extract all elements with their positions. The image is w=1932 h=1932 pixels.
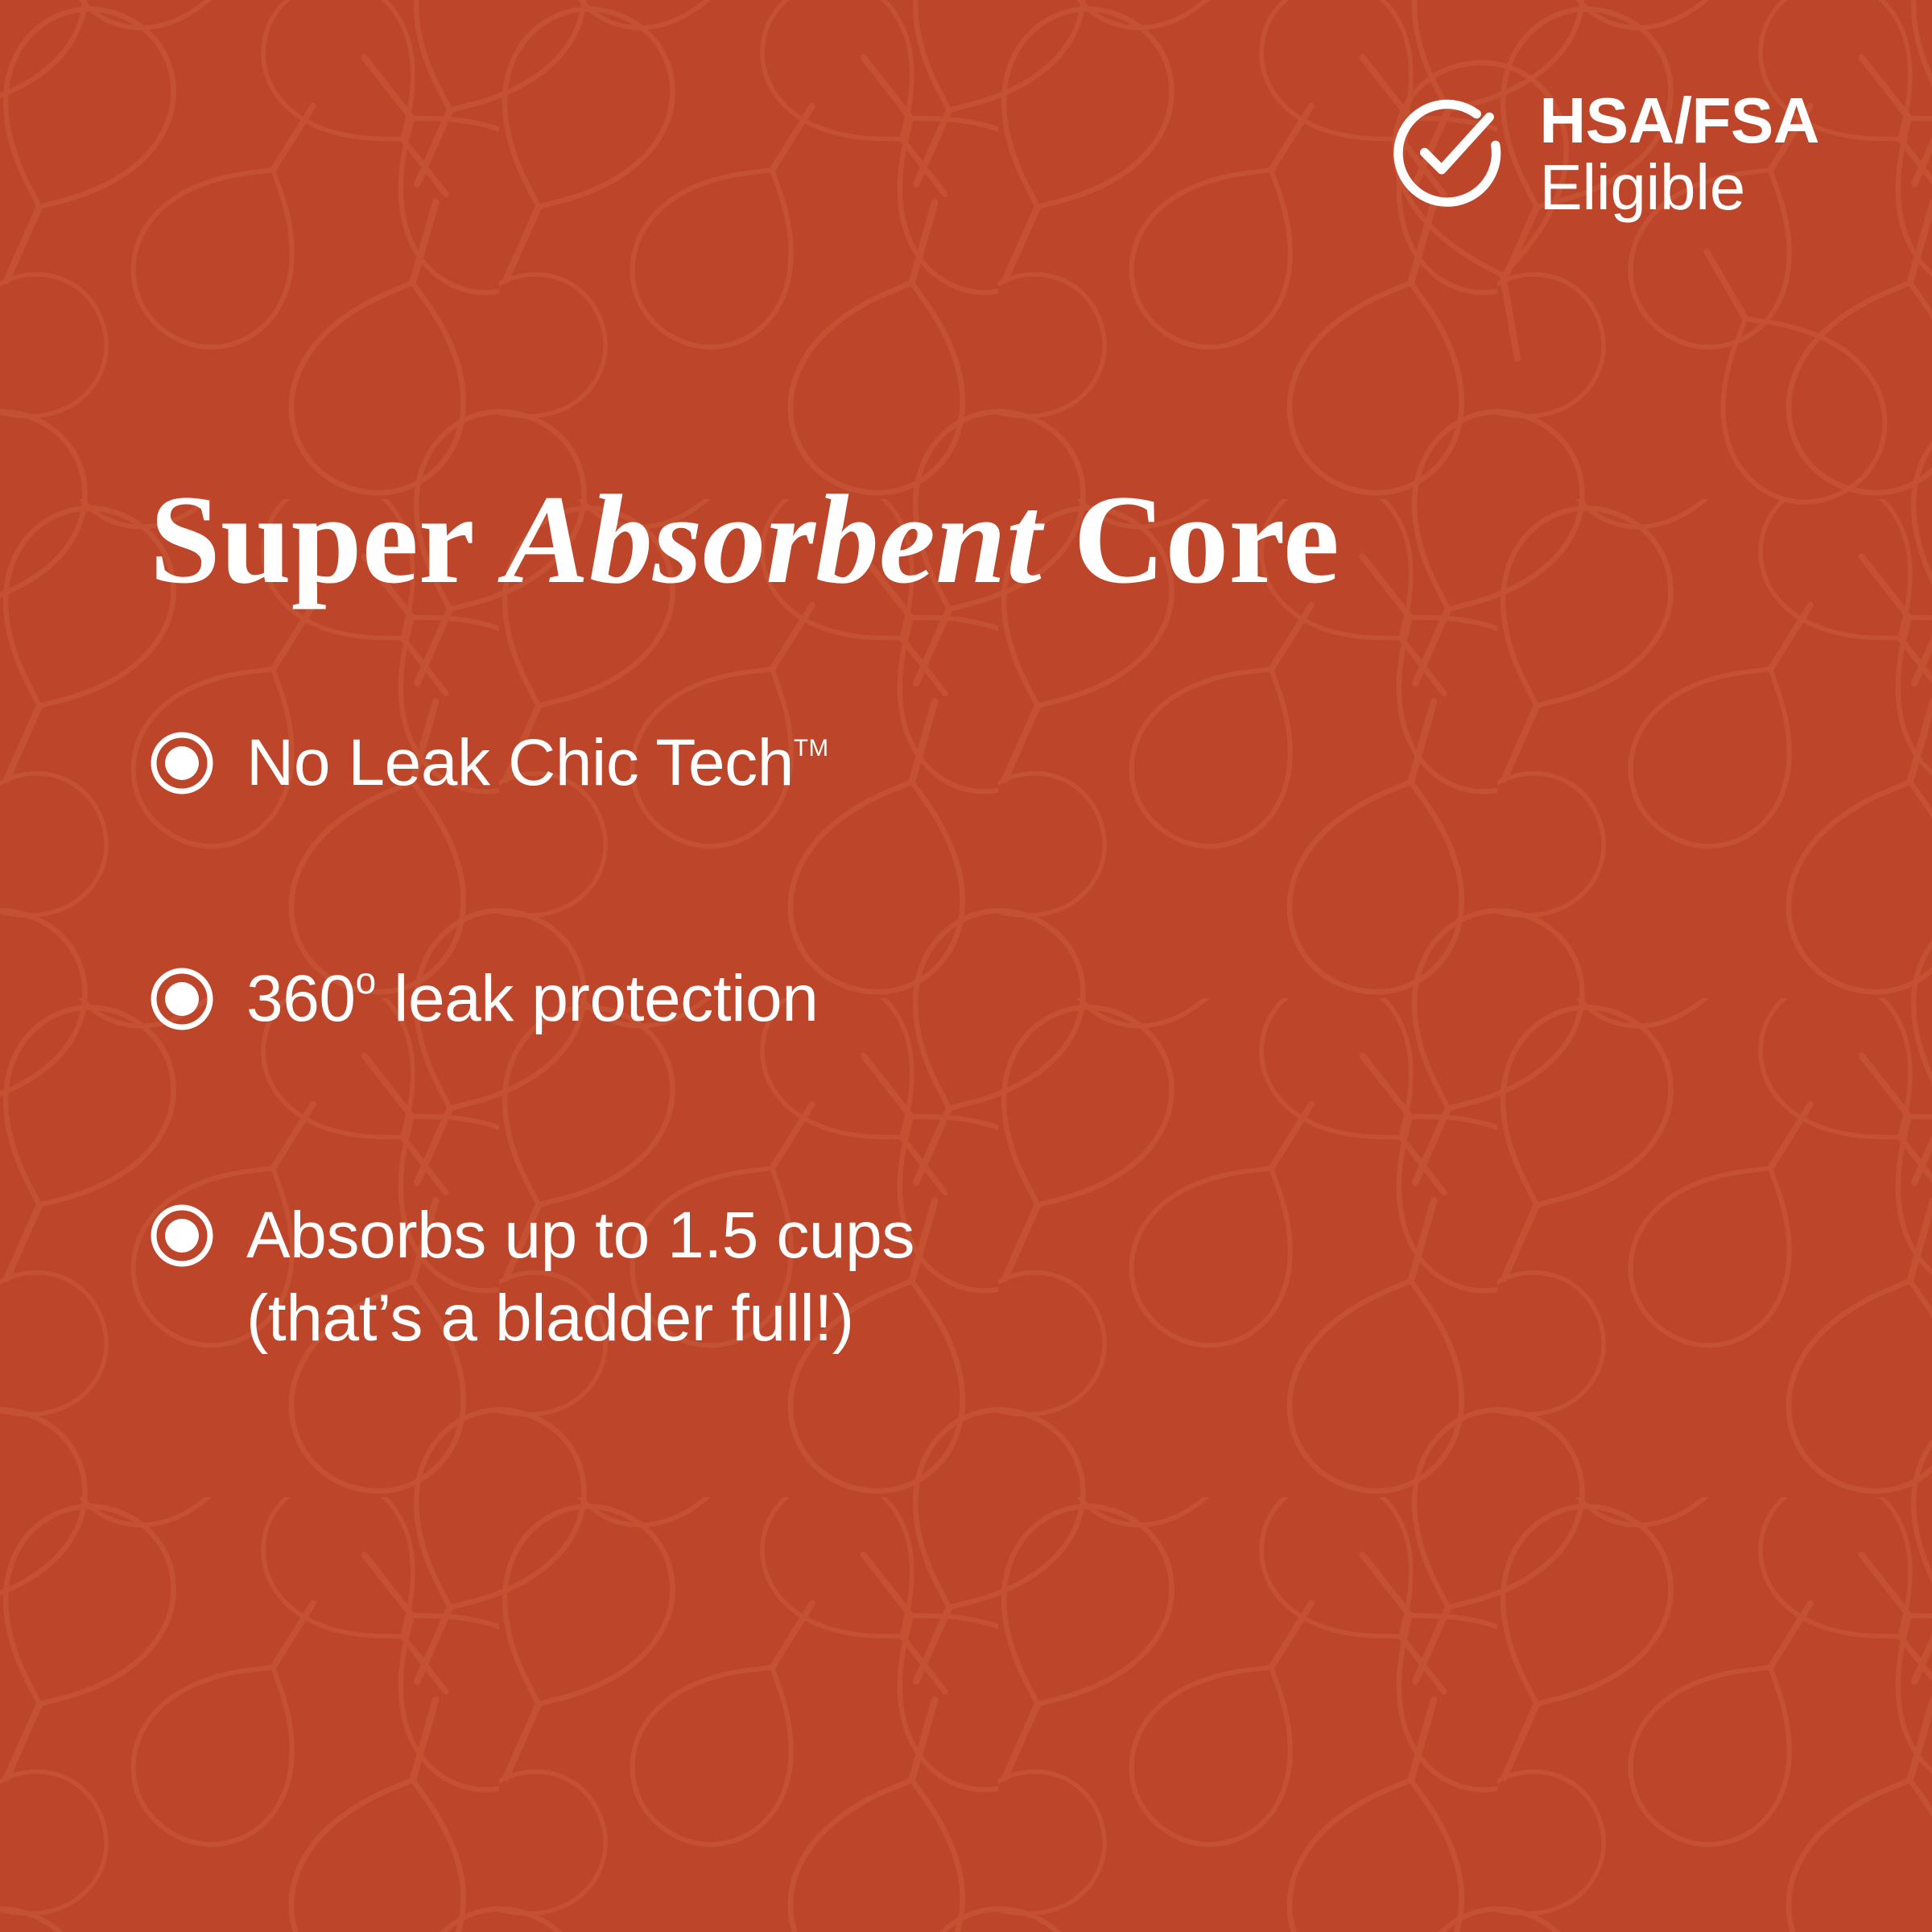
feature-label-line-2: (that’s a bladder full!) — [246, 1282, 854, 1355]
feature-label: leak protection — [376, 962, 819, 1035]
headline-part-1: Super — [150, 469, 505, 610]
feature-label: No Leak Chic Tech — [246, 726, 794, 799]
feature-list: No Leak Chic TechTM 360o leak protection… — [150, 721, 1599, 1360]
page-title: Super Absorbent Core — [150, 477, 1340, 604]
list-item: No Leak Chic TechTM — [150, 721, 1599, 804]
badge-line-eligible: Eligible — [1539, 154, 1819, 221]
badge-line-hsa-fsa: HSA/FSA — [1539, 87, 1819, 154]
trademark-symbol: TM — [794, 735, 829, 762]
promo-card: HSA/FSA Eligible Super Absorbent Core No… — [0, 0, 1932, 1932]
feature-text: No Leak Chic TechTM — [246, 721, 829, 804]
degree-symbol: o — [356, 960, 376, 1001]
radio-filled-icon — [150, 1203, 214, 1268]
hsa-fsa-eligible-badge: HSA/FSA Eligible — [1388, 87, 1819, 221]
feature-value: 360 — [246, 962, 356, 1035]
badge-text-block: HSA/FSA Eligible — [1539, 87, 1819, 221]
radio-filled-icon — [150, 731, 214, 795]
list-item: 360o leak protection — [150, 957, 1599, 1040]
headline-part-3: Core — [1042, 469, 1340, 610]
headline-part-2-italic: Absorbent — [505, 469, 1042, 610]
check-circle-icon — [1388, 93, 1510, 215]
feature-text: 360o leak protection — [246, 957, 818, 1040]
list-item: Absorbs up to 1.5 cups(that’s a bladder … — [150, 1194, 1599, 1360]
feature-label-line-1: Absorbs up to 1.5 cups — [246, 1199, 914, 1272]
radio-filled-icon — [150, 967, 214, 1031]
feature-text: Absorbs up to 1.5 cups(that’s a bladder … — [246, 1194, 914, 1360]
